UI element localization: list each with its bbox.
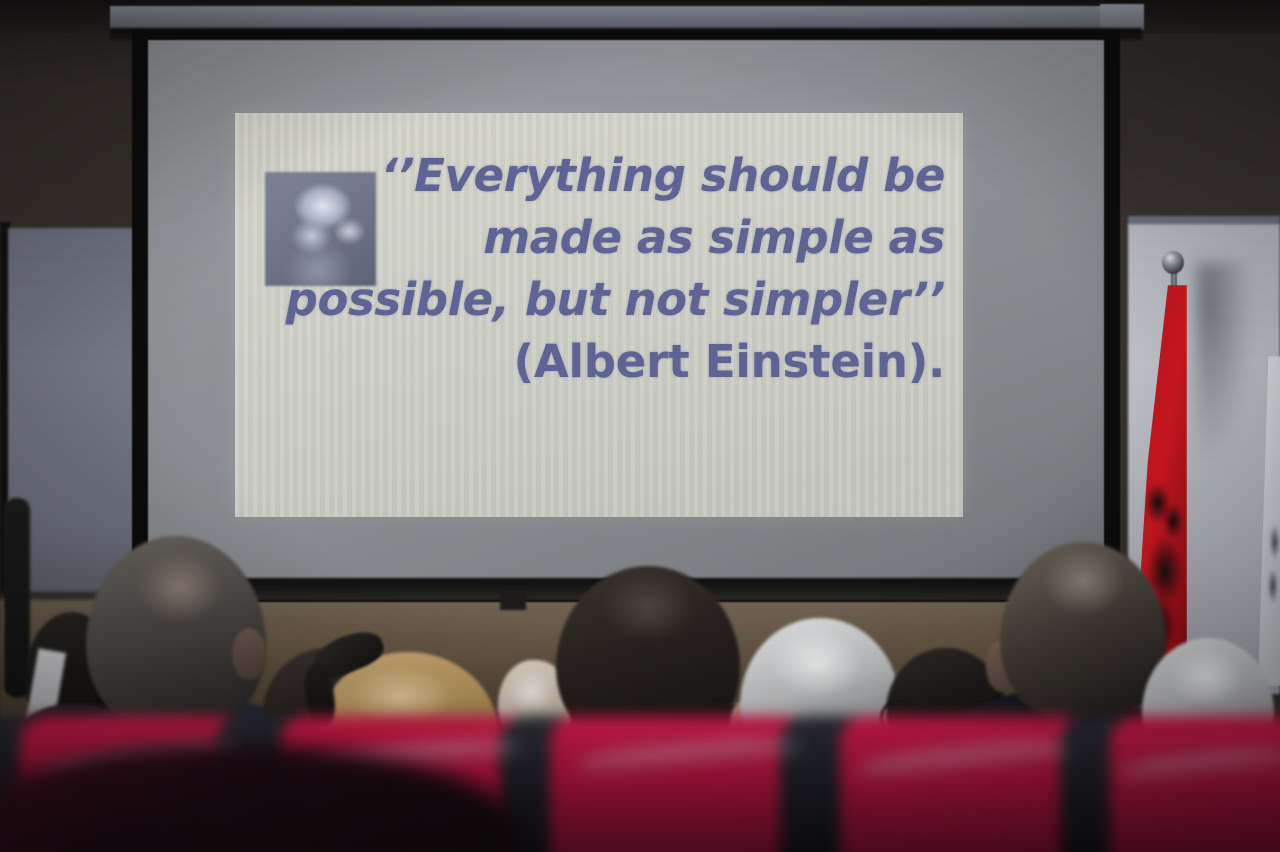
projection-screen-roller xyxy=(110,6,1142,30)
projection-screen-roller-cap xyxy=(1100,4,1144,30)
quote-line-2: made as simple as xyxy=(255,207,945,269)
quote-line-1: ‘’Everything should be xyxy=(255,145,945,207)
quote-line-3: possible, but not simpler’’ xyxy=(255,269,945,331)
quote-attribution: (Albert Einstein). xyxy=(255,331,945,393)
projected-slide: ‘’Everything should be made as simple as… xyxy=(235,113,963,517)
flag-finial-icon xyxy=(1162,251,1184,274)
secondary-flag-emblem xyxy=(1264,520,1280,630)
attendee-ear-p2 xyxy=(232,628,266,680)
presentation-photo: ‘’Everything should be made as simple as… xyxy=(0,0,1280,852)
projection-screen-pull-tab xyxy=(500,592,526,610)
flag-cast-shadow xyxy=(1196,262,1252,462)
slide-quote-text: ‘’Everything should be made as simple as… xyxy=(255,145,945,393)
